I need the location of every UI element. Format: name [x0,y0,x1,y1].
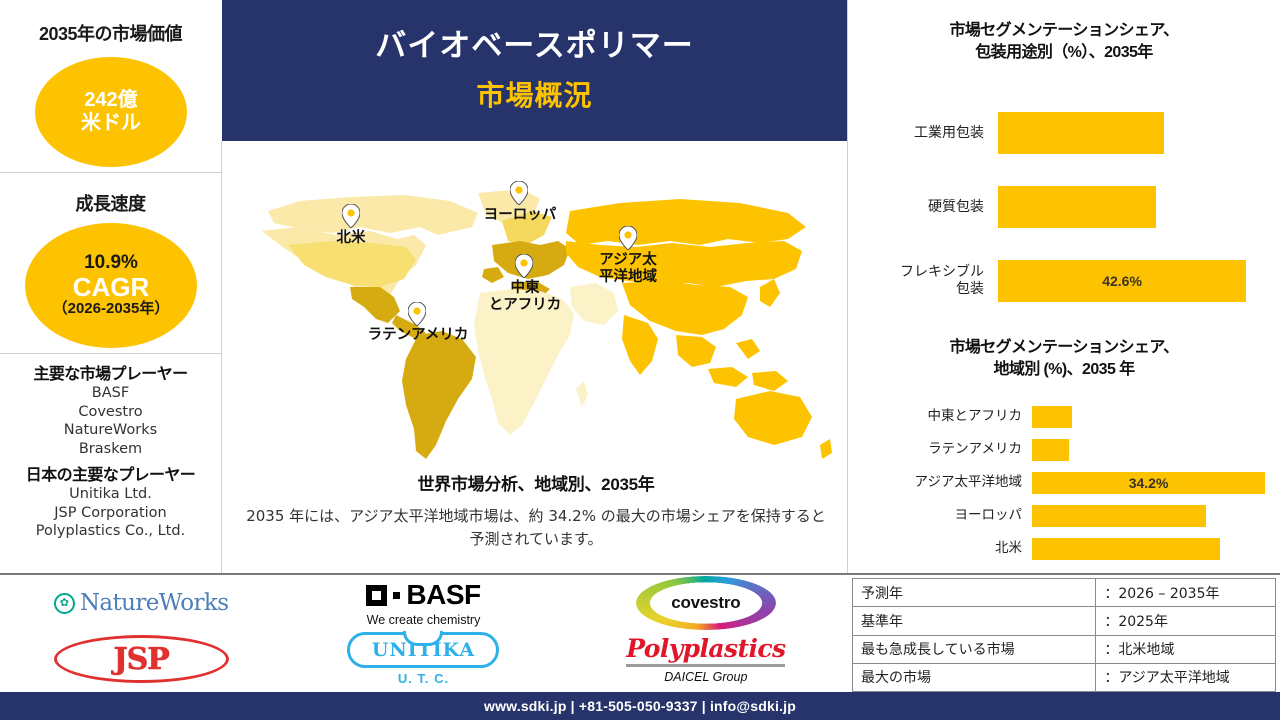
bar-namerica [1032,538,1220,560]
logo-covestro: covestro [565,575,847,631]
growth-heading: 成長速度 [0,190,221,216]
bar-rigid [998,186,1156,228]
logo-jsp: JSP [0,631,282,687]
unitika-sub: U. T. C. [347,671,499,686]
footer-bar: www.sdki.jp | +81-505-050-9337 | info@sd… [0,692,1280,720]
table-cell-key: 予測年 [853,579,1096,607]
basf-tagline: We create chemistry [366,613,480,627]
map-pin-north-america [342,204,360,228]
map-pin-latin-america [408,302,426,326]
divider-1 [0,172,221,173]
bar-row: ラテンアメリカ [848,433,1280,466]
table-row: 予測年 ：2026 – 2035年 [853,579,1276,607]
polyplastics-wordmark: Polyplastics [626,634,785,667]
table-cell-value: ：2025年 [1096,607,1276,635]
bar-mea [1032,406,1072,428]
bar-row: フレキシブル 包装 42.6% [848,244,1280,318]
bar-row: ヨーロッパ [848,499,1280,532]
bar-row: 硬質包装 [848,170,1280,244]
bar-label: ヨーロッパ [848,507,1032,523]
key-players-heading: 主要な市場プレーヤー [0,360,221,384]
jsp-ellipse-icon: JSP [54,635,229,683]
cagr-percent: 10.9% [84,253,138,274]
packaging-chart-title: 市場セグメンテーションシェア、 包装用途別（%）、2035年 [862,20,1266,63]
table-cell-key: 最大の市場 [853,663,1096,691]
logo-polyplastics: Polyplastics DAICEL Group [565,631,847,687]
natureworks-wordmark: NatureWorks [80,590,229,616]
market-value-oval: 242億 米ドル [35,57,187,167]
player-item: BASF [0,384,221,403]
footer-contact: www.sdki.jp | +81-505-050-9337 | info@sd… [484,698,796,714]
map-label-asia-pacific: アジア太 平洋地域 [580,252,676,285]
bar-row: アジア太平洋地域 34.2% [848,466,1280,499]
bar-label: フレキシブル 包装 [848,264,998,298]
bar-label: 北米 [848,540,1032,556]
logo-natureworks: ✿ NatureWorks [0,575,282,631]
basf-wordmark: BASF [406,579,480,611]
infographic-page: 2035年の市場価値 242億 米ドル 成長速度 10.9% CAGR （202… [0,0,1280,720]
natureworks-mark-icon: ✿ [54,593,75,614]
map-pin-middle-east-africa [515,254,533,278]
unitika-wordmark: UNITIKA [372,639,475,661]
table-row: 最も急成長している市場 ：北米地域 [853,635,1276,663]
right-sidebar: 市場セグメンテーションシェア、 包装用途別（%）、2035年 工業用包装 硬質包… [848,0,1280,573]
cagr-oval: 10.9% CAGR （2026-2035年） [25,223,197,348]
bar-label: 硬質包装 [848,199,998,216]
player-item: Covestro [0,403,221,422]
logo-grid: ✿ NatureWorks BASF We create chemistry c… [0,575,847,687]
bar-latam [1032,439,1069,461]
bar-label: アジア太平洋地域 [848,474,1032,490]
unitika-box-icon: UNITIKA [347,632,499,668]
table-cell-value: ：北米地域 [1096,635,1276,663]
bar-apac: 34.2% [1032,472,1265,494]
caption-title: 世界市場分析、地域別、2035年 [230,470,842,495]
world-map [240,183,840,468]
table-cell-key: 最も急成長している市場 [853,635,1096,663]
jp-player-item: JSP Corporation [0,504,221,523]
cagr-years: （2026-2035年） [53,301,170,318]
table-cell-value: ：2026 – 2035年 [1096,579,1276,607]
table-row: 基準年 ：2025年 [853,607,1276,635]
bar-label: ラテンアメリカ [848,441,1032,457]
banner-title: バイオベースポリマー [375,27,693,66]
bar-value: 42.6% [998,273,1246,289]
map-label-north-america: 北米 [320,230,382,247]
bar-value: 34.2% [1032,475,1265,491]
packaging-segmentation-chart: 工業用包装 硬質包装 フレキシブル 包装 42.6% [848,96,1280,318]
table-row: 最大の市場 ：アジア太平洋地域 [853,663,1276,691]
map-caption: 世界市場分析、地域別、2035年 2035 年には、アジア太平洋地域市場は、約 … [230,470,842,550]
market-value-line2: 米ドル [81,112,141,135]
logo-basf: BASF We create chemistry [282,575,564,631]
left-sidebar: 2035年の市場価値 242億 米ドル 成長速度 10.9% CAGR （202… [0,0,221,573]
divider-2 [0,353,221,354]
map-label-latin-america: ラテンアメリカ [344,327,492,344]
bar-industrial [998,112,1164,154]
bar-row: 中東とアフリカ [848,400,1280,433]
bar-europe [1032,505,1206,527]
bar-row: 工業用包装 [848,96,1280,170]
table-cell-key: 基準年 [853,607,1096,635]
polyplastics-sub: DAICEL Group [626,670,785,684]
map-pin-asia-pacific [619,226,637,250]
bar-label: 中東とアフリカ [848,408,1032,424]
bar-flexible: 42.6% [998,260,1246,302]
jp-player-item: Unitika Ltd. [0,485,221,504]
jsp-wordmark: JSP [113,642,168,677]
world-map-area: 北米 ヨーロッパ アジア太 平洋地域 中東 とアフリカ ラテンアメリカ [222,141,847,476]
jp-player-item: Polyplastics Co., Ltd. [0,522,221,541]
player-item: NatureWorks [0,421,221,440]
map-label-middle-east-africa: 中東 とアフリカ [466,280,584,313]
cagr-word: CAGR [73,274,150,301]
map-pin-europe [510,181,528,205]
bar-row: 北米 [848,532,1280,565]
spec-table: 予測年 ：2026 – 2035年 基準年 ：2025年 最も急成長している市場… [852,578,1276,692]
table-cell-value: ：アジア太平洋地域 [1096,663,1276,691]
region-segmentation-chart: 中東とアフリカ ラテンアメリカ アジア太平洋地域 34.2% ヨーロッパ [848,400,1280,570]
basf-square-icon [366,585,387,606]
market-value-line1: 242億 [84,89,137,112]
title-banner: バイオベースポリマー 市場概況 [222,0,847,141]
caption-body: 2035 年には、アジア太平洋地域市場は、約 34.2% の最大の市場シェアを保… [230,505,842,550]
key-players-block: 主要な市場プレーヤー BASF Covestro NatureWorks Bra… [0,360,221,541]
player-item: Braskem [0,440,221,459]
jp-players-heading: 日本の主要なプレーヤー [0,461,221,485]
banner-subtitle: 市場概況 [476,74,592,114]
covestro-wordmark: covestro [671,593,740,613]
bar-label: 工業用包装 [848,125,998,142]
basf-dot-icon [393,592,400,599]
map-label-europe: ヨーロッパ [462,207,578,224]
region-chart-title: 市場セグメンテーションシェア、 地域別 (%)、2035 年 [862,337,1266,380]
logo-unitika: UNITIKA U. T. C. [282,631,564,687]
market-value-heading: 2035年の市場価値 [0,20,221,46]
